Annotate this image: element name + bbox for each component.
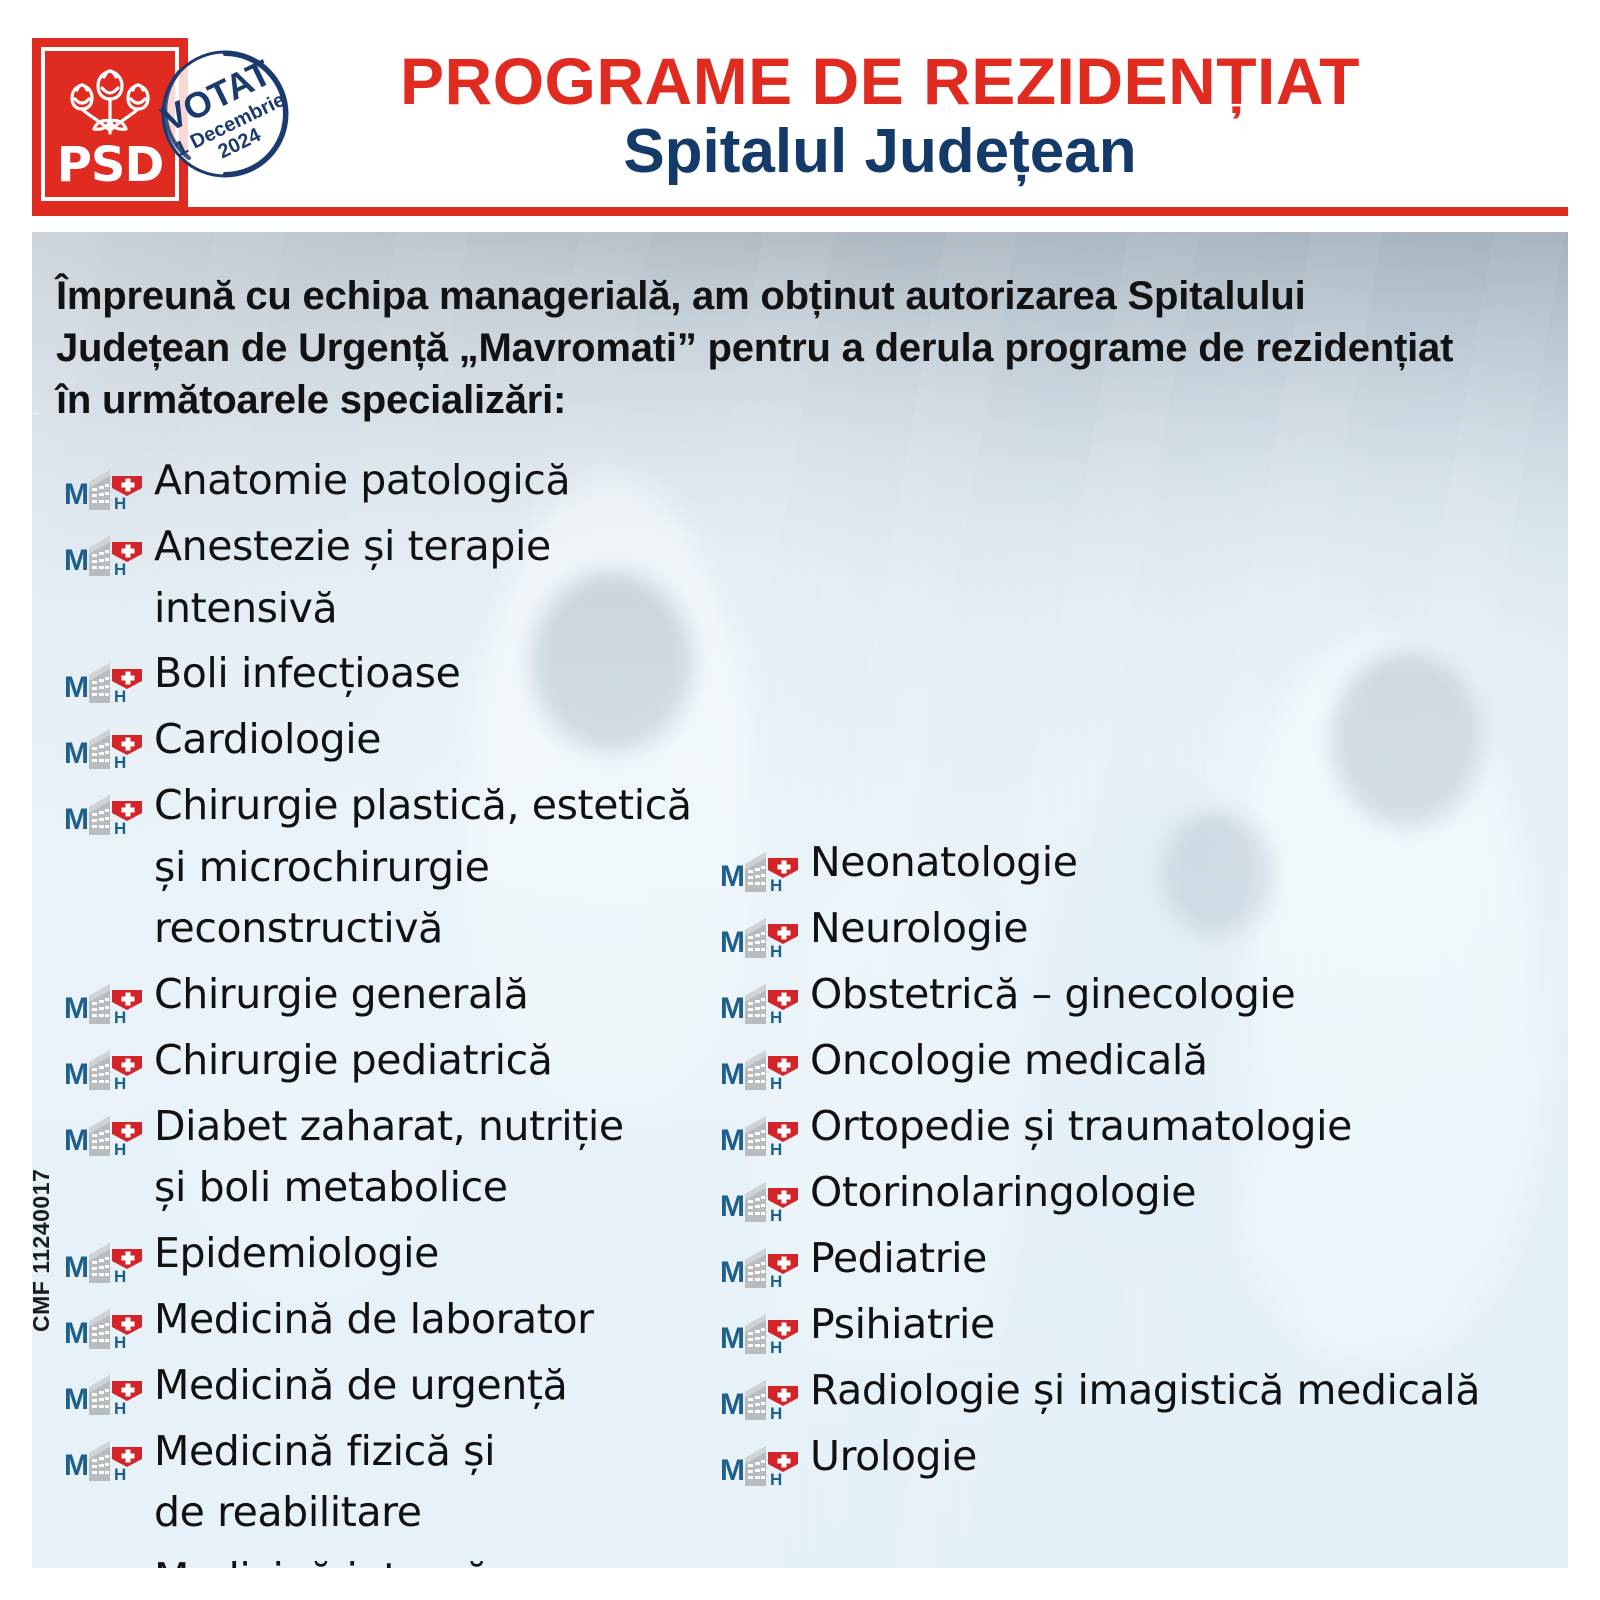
- specialty-label: Chirurgie plastică, estetică și microchi…: [142, 775, 724, 960]
- svg-text:H: H: [114, 1399, 126, 1415]
- page-title: PROGRAME DE REZIDENȚIAT: [190, 48, 1570, 115]
- specialty-item: M H Chirurgie plastică, estetică: [64, 775, 724, 960]
- specialty-label: Obstetrică – ginecologie: [798, 964, 1295, 1026]
- hospital-mh-icon: M H: [720, 848, 798, 892]
- specialty-label: Medicină de urgență: [142, 1355, 567, 1417]
- specialty-item: M H Psihiatrie: [720, 1294, 1550, 1356]
- hospital-mh-icon: M H: [64, 1305, 142, 1349]
- specialty-label: Otorinolaringologie: [798, 1162, 1196, 1224]
- specialty-item: M H Obstetrică – ginecologie: [720, 964, 1550, 1026]
- hospital-mh-icon: M H: [64, 1437, 142, 1481]
- specialty-item: M H Oncologie medicală: [720, 1030, 1550, 1092]
- specialty-item: M H Medicină de laborator: [64, 1289, 724, 1351]
- hospital-mh-icon: M H: [64, 1046, 142, 1090]
- svg-text:H: H: [770, 1140, 782, 1156]
- hospital-mh-icon: M H: [64, 725, 142, 769]
- specialty-label: Epidemiologie: [142, 1223, 439, 1285]
- svg-text:H: H: [770, 1338, 782, 1354]
- hospital-mh-icon: M H: [720, 1244, 798, 1288]
- hospital-mh-icon: M H: [720, 980, 798, 1024]
- hospital-mh-icon: M H: [64, 1564, 142, 1569]
- header-divider: [32, 207, 1568, 216]
- specialty-item: M H Medicină internă: [64, 1548, 724, 1569]
- hospital-mh-icon: M H: [64, 659, 142, 703]
- svg-text:M: M: [64, 1449, 89, 1481]
- specialty-item: M H Anestezie și terapie intensivă: [64, 516, 724, 639]
- svg-text:H: H: [770, 1206, 782, 1222]
- specialty-item: M H Neonatologie: [720, 832, 1550, 894]
- svg-text:M: M: [64, 478, 89, 510]
- specialty-label: Psihiatrie: [798, 1294, 995, 1356]
- specialty-item: M H Chirurgie generală: [64, 964, 724, 1026]
- svg-text:M: M: [64, 1124, 89, 1156]
- svg-text:M: M: [720, 1058, 745, 1090]
- svg-text:H: H: [114, 819, 126, 835]
- intro-paragraph: Împreună cu echipa managerială, am obțin…: [56, 270, 1486, 426]
- svg-text:M: M: [720, 1322, 745, 1354]
- specialty-label: Anatomie patologică: [142, 450, 570, 512]
- document-code: CMF 11240017: [32, 1169, 55, 1332]
- hospital-mh-icon: M H: [720, 1178, 798, 1222]
- svg-text:H: H: [114, 560, 126, 576]
- svg-text:H: H: [114, 687, 126, 703]
- svg-text:H: H: [114, 1140, 126, 1156]
- svg-text:M: M: [64, 1383, 89, 1415]
- svg-text:M: M: [720, 926, 745, 958]
- page-header: PSD VOTAT 1 Decembrie 2024 PROGRAME DE R…: [0, 0, 1600, 232]
- specialty-item: M H Cardiologie: [64, 709, 724, 771]
- svg-text:H: H: [770, 1470, 782, 1486]
- specialty-label: Oncologie medicală: [798, 1030, 1208, 1092]
- svg-text:H: H: [114, 753, 126, 769]
- specialties-list-left: M H Anatomie patologică: [64, 450, 724, 1568]
- specialty-label: Medicină internă: [142, 1548, 490, 1569]
- specialty-item: M H Ortopedie și traumatologie: [720, 1096, 1550, 1158]
- hospital-mh-icon: M H: [64, 791, 142, 835]
- hospital-mh-icon: M H: [64, 1371, 142, 1415]
- specialty-item: M H Medicină de urgență: [64, 1355, 724, 1417]
- hospital-mh-icon: M H: [720, 1112, 798, 1156]
- svg-text:M: M: [720, 1454, 745, 1486]
- specialty-label: Cardiologie: [142, 709, 381, 771]
- svg-text:H: H: [114, 1267, 126, 1283]
- specialty-label: Ortopedie și traumatologie: [798, 1096, 1352, 1158]
- svg-text:M: M: [64, 544, 89, 576]
- hospital-mh-icon: M H: [720, 914, 798, 958]
- svg-text:H: H: [770, 1404, 782, 1420]
- hospital-mh-icon: M H: [720, 1442, 798, 1486]
- specialty-label: Pediatrie: [798, 1228, 987, 1290]
- specialties-list-right: M H Neonatologie: [720, 832, 1550, 1492]
- specialty-item: M H Radiologie și imagistică medica: [720, 1360, 1550, 1422]
- svg-text:H: H: [770, 1272, 782, 1288]
- specialty-item: M H Pediatrie: [720, 1228, 1550, 1290]
- svg-text:H: H: [114, 1074, 126, 1090]
- svg-text:H: H: [770, 1074, 782, 1090]
- svg-text:M: M: [720, 992, 745, 1024]
- specialty-item: M H Urologie: [720, 1426, 1550, 1488]
- hospital-mh-icon: M H: [720, 1310, 798, 1354]
- specialty-item: M H Otorinolaringologie: [720, 1162, 1550, 1224]
- svg-text:H: H: [114, 1465, 126, 1481]
- svg-text:H: H: [114, 1008, 126, 1024]
- hospital-mh-icon: M H: [720, 1376, 798, 1420]
- svg-text:H: H: [114, 494, 126, 510]
- specialty-label: Diabet zaharat, nutriție și boli metabol…: [142, 1096, 624, 1219]
- specialty-item: M H Diabet zaharat, nutriție și: [64, 1096, 724, 1219]
- svg-text:M: M: [64, 1058, 89, 1090]
- hospital-mh-icon: M H: [64, 532, 142, 576]
- specialty-item: M H Chirurgie pediatrică: [64, 1030, 724, 1092]
- svg-text:H: H: [770, 876, 782, 892]
- specialty-label: Anestezie și terapie intensivă: [142, 516, 724, 639]
- svg-text:M: M: [720, 860, 745, 892]
- svg-text:M: M: [64, 803, 89, 835]
- svg-text:H: H: [114, 1333, 126, 1349]
- svg-text:M: M: [720, 1124, 745, 1156]
- svg-text:M: M: [720, 1256, 745, 1288]
- specialty-label: Urologie: [798, 1426, 977, 1488]
- svg-text:M: M: [64, 737, 89, 769]
- specialty-label: Neurologie: [798, 898, 1028, 960]
- content-panel: Împreună cu echipa managerială, am obțin…: [32, 232, 1568, 1568]
- specialty-item: M H Boli infecțioase: [64, 643, 724, 705]
- svg-text:M: M: [64, 1251, 89, 1283]
- svg-text:M: M: [64, 671, 89, 703]
- hospital-mh-icon: M H: [720, 1046, 798, 1090]
- specialty-label: Chirurgie generală: [142, 964, 528, 1026]
- specialty-label: Chirurgie pediatrică: [142, 1030, 552, 1092]
- hospital-mh-icon: M H: [64, 1239, 142, 1283]
- page-subtitle: Spitalul Județean: [190, 120, 1570, 183]
- svg-text:M: M: [720, 1388, 745, 1420]
- svg-text:H: H: [770, 1008, 782, 1024]
- hospital-mh-icon: M H: [64, 466, 142, 510]
- specialty-item: M H Epidemiologie: [64, 1223, 724, 1285]
- hospital-mh-icon: M H: [64, 980, 142, 1024]
- specialty-label: Medicină fizică și de reabilitare: [142, 1421, 495, 1544]
- specialty-item: M H Anatomie patologică: [64, 450, 724, 512]
- hospital-mh-icon: M H: [64, 1112, 142, 1156]
- specialty-item: M H Medicină fizică și de reabi: [64, 1421, 724, 1544]
- specialty-item: M H Neurologie: [720, 898, 1550, 960]
- svg-text:H: H: [770, 942, 782, 958]
- svg-text:M: M: [720, 1190, 745, 1222]
- svg-text:M: M: [64, 992, 89, 1024]
- specialty-label: Radiologie și imagistică medicală: [798, 1360, 1480, 1422]
- specialty-label: Medicină de laborator: [142, 1289, 594, 1351]
- svg-text:M: M: [64, 1317, 89, 1349]
- specialty-label: Neonatologie: [798, 832, 1078, 894]
- specialty-label: Boli infecțioase: [142, 643, 460, 705]
